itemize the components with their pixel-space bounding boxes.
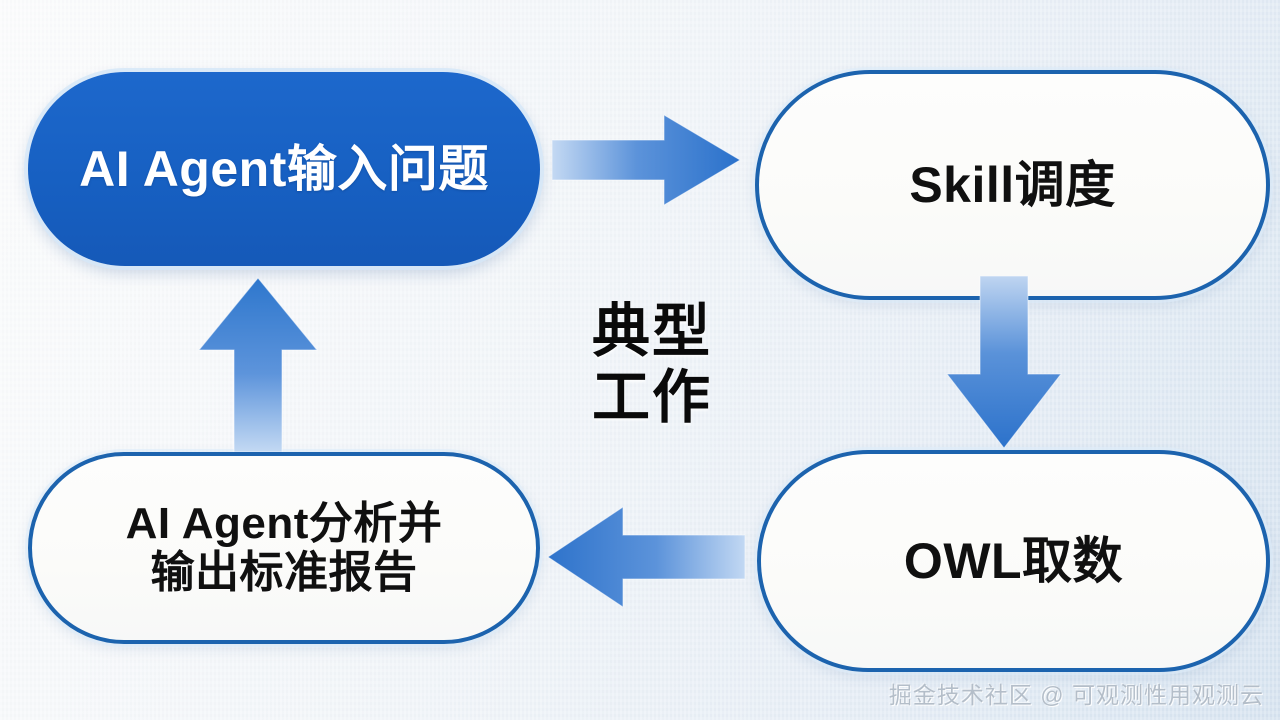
diagram-canvas: AI Agent输入问题 Skill调度 OWL取数 AI Agent分析并 输… <box>0 0 1280 720</box>
node-label: AI Agent分析并 输出标准报告 <box>126 499 443 598</box>
node-owl-fetch-data[interactable]: OWL取数 <box>757 450 1270 672</box>
node-label: AI Agent输入问题 <box>79 141 489 197</box>
arrow-left-glyph <box>545 503 745 611</box>
node-label: OWL取数 <box>904 533 1123 589</box>
arrow-up-glyph <box>196 276 320 452</box>
node-ai-agent-report[interactable]: AI Agent分析并 输出标准报告 <box>28 452 540 644</box>
node-label: Skill调度 <box>909 157 1115 213</box>
arrow-down-glyph <box>944 276 1064 448</box>
arrow-left-icon <box>545 503 745 611</box>
center-caption-text: 典型 工作 <box>592 299 712 431</box>
arrow-right-glyph <box>552 112 740 208</box>
node-ai-agent-input[interactable]: AI Agent输入问题 <box>28 72 540 266</box>
arrow-up-icon <box>196 276 320 452</box>
arrow-down-icon <box>944 276 1064 448</box>
watermark-text: 掘金技术社区 @ 可观测性用观测云 <box>889 676 1264 710</box>
center-caption: 典型 工作 <box>548 272 756 458</box>
arrow-right-icon <box>552 112 740 208</box>
node-skill-dispatch[interactable]: Skill调度 <box>755 70 1270 300</box>
